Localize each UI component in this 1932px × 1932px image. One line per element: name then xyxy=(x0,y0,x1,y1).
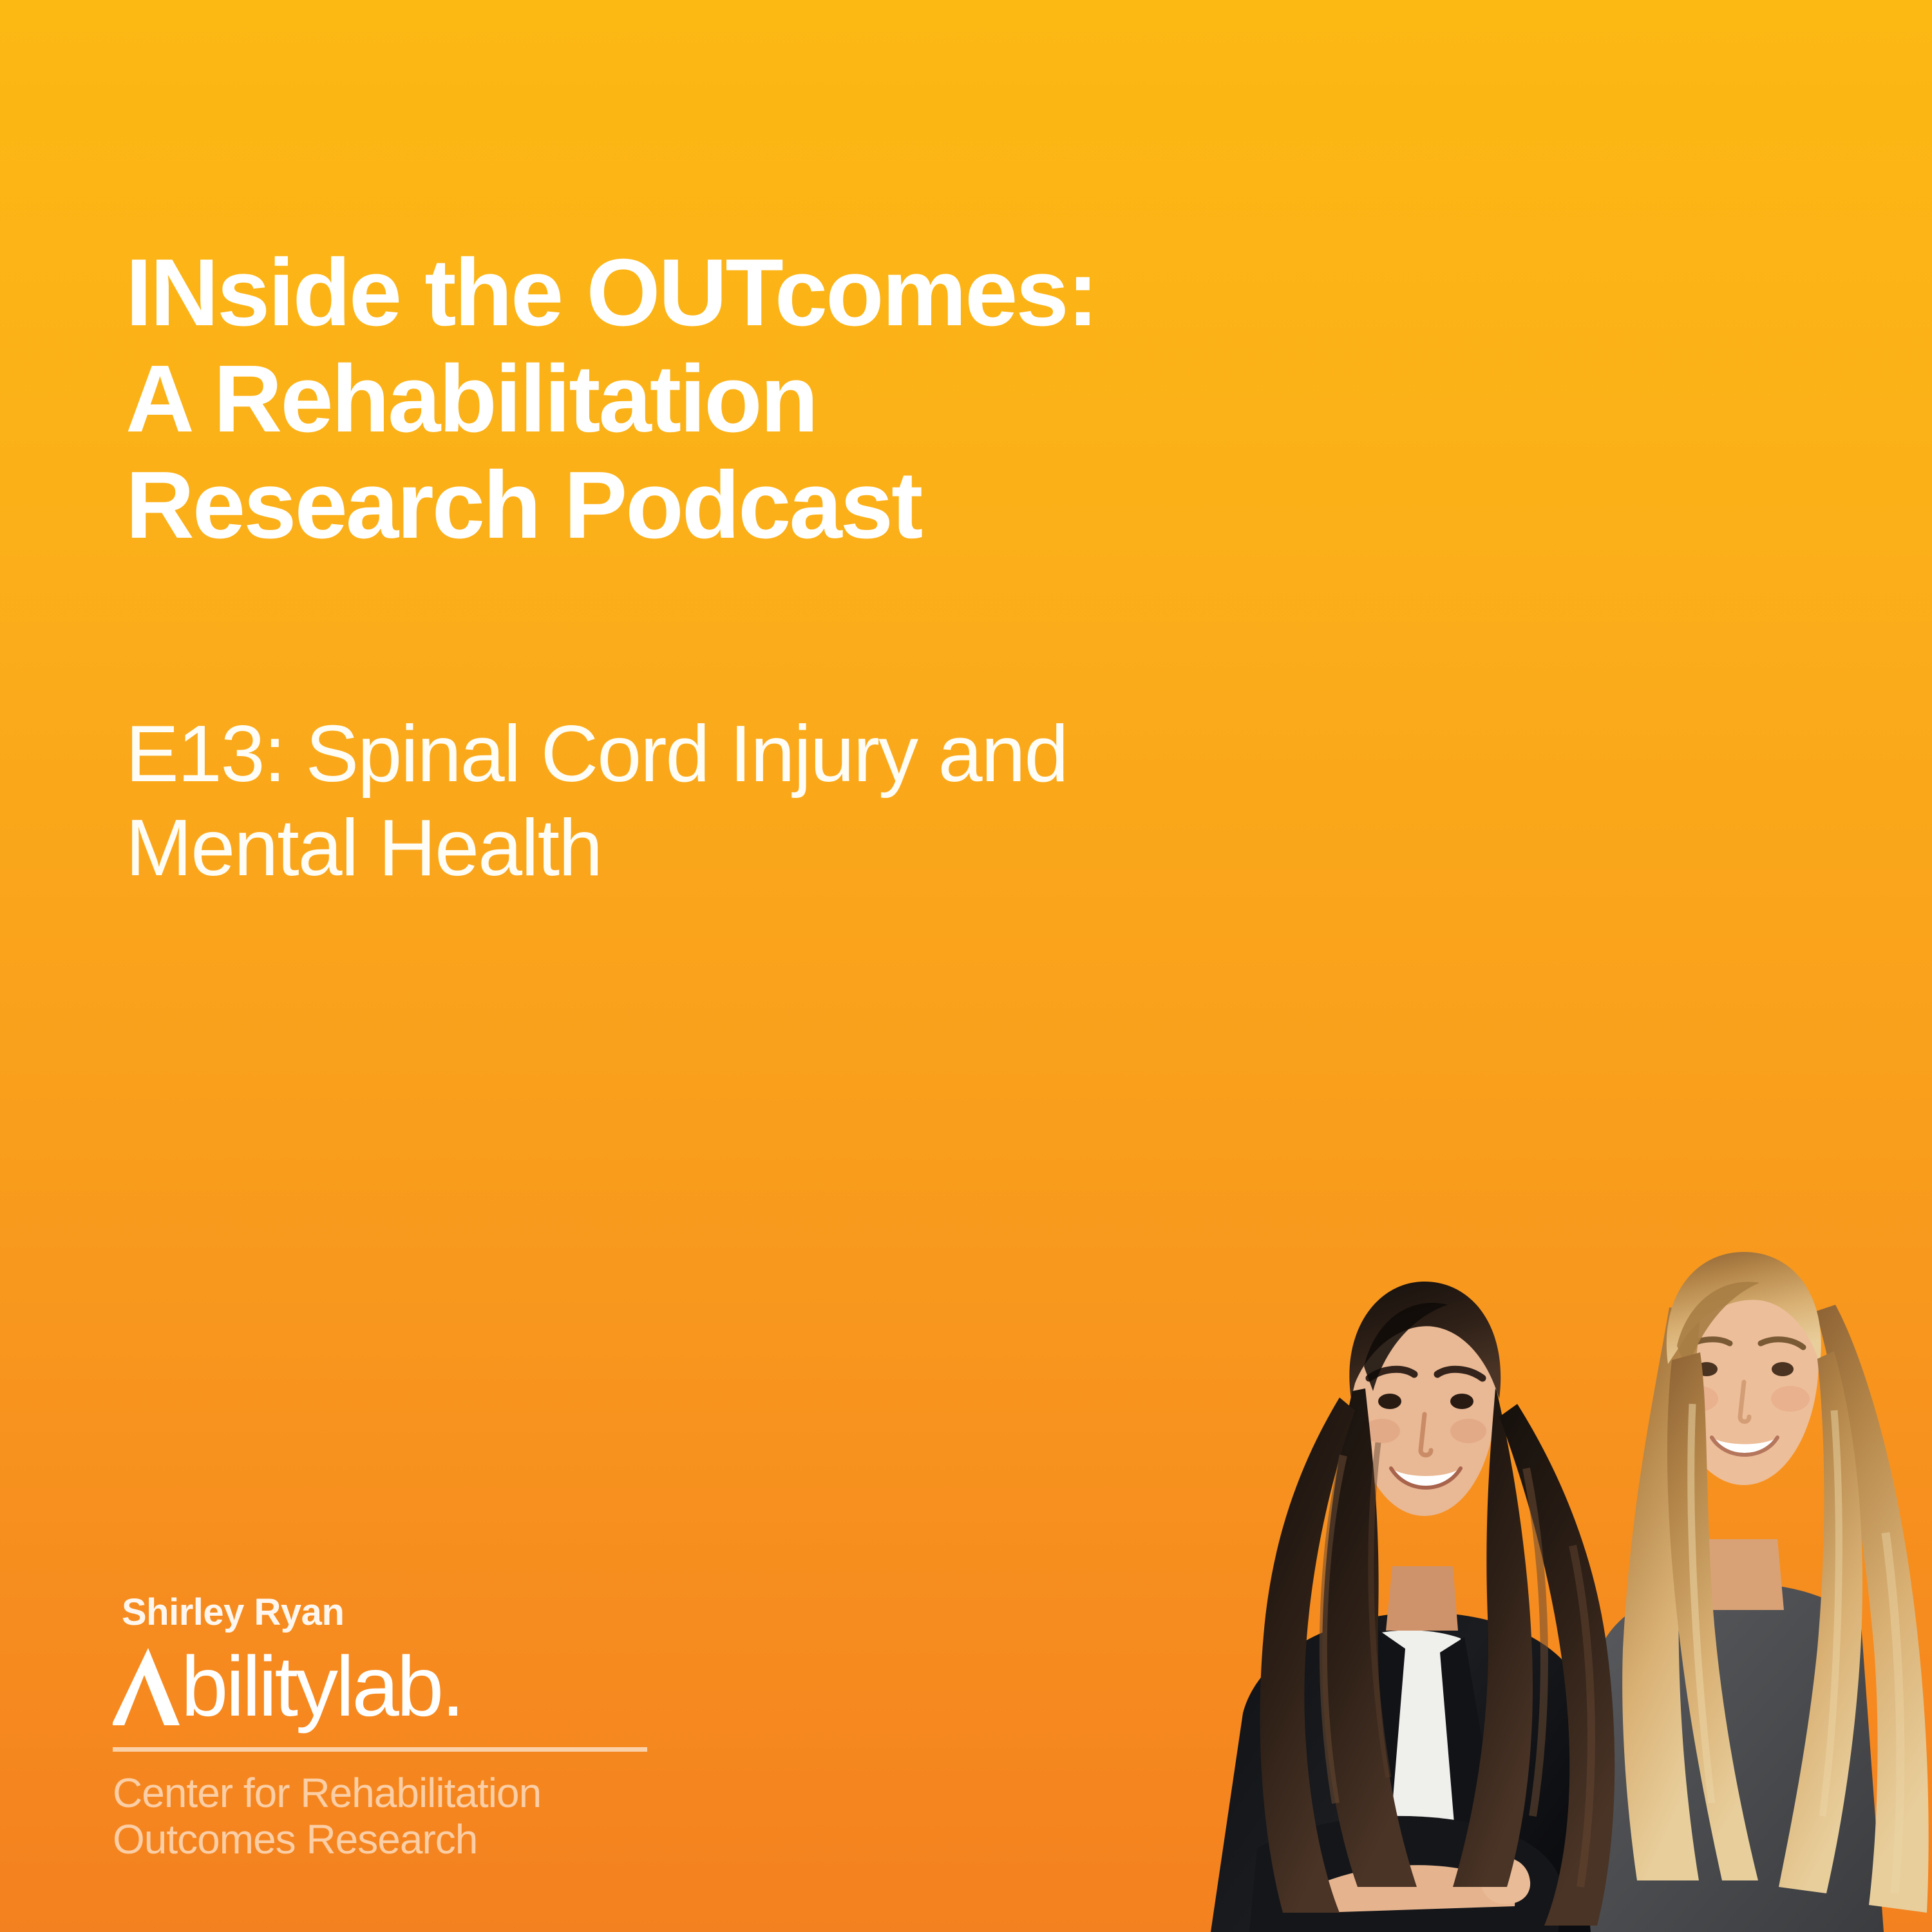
logo-wordmark: bilitylab. xyxy=(113,1638,673,1728)
podcast-title-line-3: Research Podcast xyxy=(126,452,1097,558)
podcast-title-line-1: INside the OUTcomes: xyxy=(126,240,1097,346)
host-dark-hair xyxy=(1211,1282,1615,1932)
episode-subtitle-line-2: Mental Health xyxy=(126,801,1067,895)
lambda-a-icon xyxy=(113,1645,185,1728)
episode-subtitle-line-1: E13: Spinal Cord Injury and xyxy=(126,707,1067,801)
logo-center-name: Center for Rehabilitation Outcomes Resea… xyxy=(113,1770,673,1862)
guest-blonde-hair xyxy=(1578,1252,1929,1932)
logo-center-line-2: Outcomes Research xyxy=(113,1816,673,1862)
podcast-title: INside the OUTcomes: A Rehabilitation Re… xyxy=(126,240,1097,558)
logo-wordmark-text: bilitylab. xyxy=(181,1645,462,1728)
logo-divider xyxy=(113,1747,647,1752)
logo-center-line-1: Center for Rehabilitation xyxy=(113,1770,673,1816)
logo-org-prefix: Shirley Ryan xyxy=(122,1591,673,1634)
brand-logo: Shirley Ryan bilitylab. Center for Rehab… xyxy=(113,1591,673,1862)
episode-subtitle: E13: Spinal Cord Injury and Mental Healt… xyxy=(126,707,1067,895)
host-photo-composite xyxy=(1018,1198,1932,1932)
podcast-title-line-2: A Rehabilitation xyxy=(126,346,1097,452)
